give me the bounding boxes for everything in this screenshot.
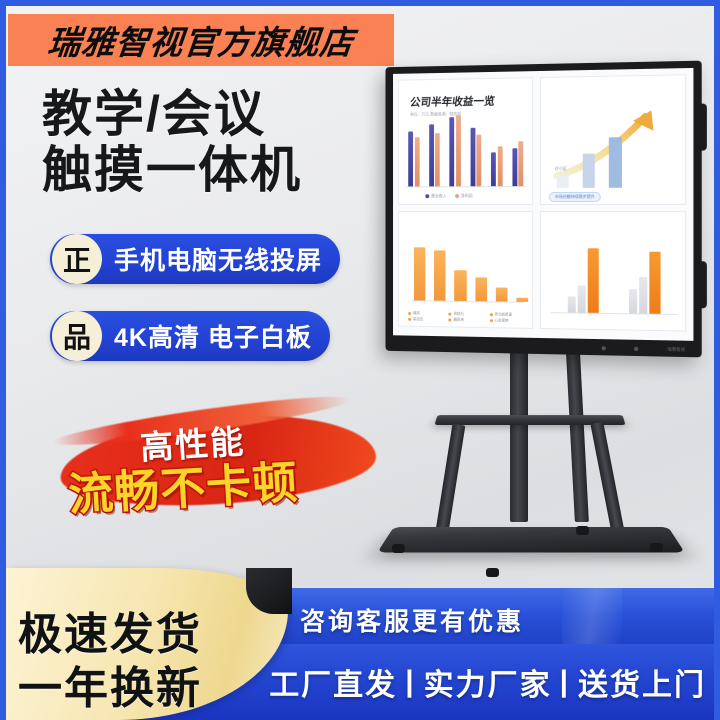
bar bbox=[414, 247, 426, 300]
store-name-banner: 瑞雅智视官方旗舰店 bbox=[8, 14, 394, 66]
feature-pill-4k-whiteboard: 品 4K高清 电子白板 bbox=[50, 311, 330, 361]
ribbon-fold-corner bbox=[246, 568, 292, 614]
descending-bar-chart bbox=[414, 243, 528, 301]
chart-card-revenue: 公司半年收益一览 单位：万元 数据来源：财务部 营业收入 bbox=[398, 77, 533, 205]
growth-axis-label: 往小区 bbox=[555, 166, 567, 172]
bar-group bbox=[491, 146, 505, 186]
stand-base-plate bbox=[377, 527, 684, 552]
product-image: 公司半年收益一览 单位：万元 数据来源：财务部 营业收入 bbox=[358, 54, 714, 554]
page-title: 教学/会议 触摸一体机 bbox=[42, 86, 302, 198]
feature-pill-label-1: 手机电脑无线投屏 bbox=[102, 241, 340, 277]
legend-item: 糖尿病 bbox=[449, 318, 487, 324]
poster-stage: 瑞雅智视官方旗舰店 教学/会议 触摸一体机 正 手机电脑无线投屏 品 4K高清 … bbox=[6, 6, 714, 720]
bar-group bbox=[512, 141, 526, 186]
performance-slogan: 高性能 流畅不卡顿 bbox=[52, 404, 382, 520]
stand-column-front bbox=[510, 346, 528, 522]
feature-pill-label-2: 4K高清 电子白板 bbox=[102, 318, 330, 354]
growth-bar-highlight bbox=[637, 112, 651, 187]
ribbon-line-2: 一年换新 bbox=[18, 652, 202, 716]
poster-root: 瑞雅智视官方旗舰店 教学/会议 触摸一体机 正 手机电脑无线投屏 品 4K高清 … bbox=[0, 0, 720, 720]
chart-axis-line bbox=[406, 186, 526, 187]
slide-canvas: 公司半年收益一览 单位：万元 数据来源：财务部 营业收入 bbox=[393, 68, 693, 341]
growth-bar bbox=[583, 154, 595, 188]
legend-item: 痛风 bbox=[408, 311, 446, 316]
stand-leg-right bbox=[590, 422, 624, 534]
headline-line-2: 触摸一体机 bbox=[42, 142, 302, 198]
bar-group bbox=[470, 128, 484, 187]
bottom-promo-strip: 咨询客服更有优惠 工厂直发 | 实力厂家 | 送货上门 极速发货 一年换新 bbox=[6, 560, 714, 720]
stand-column-rear bbox=[565, 336, 589, 522]
bar bbox=[475, 277, 487, 301]
trust-points-row: 工厂直发 | 实力厂家 | 送货上门 bbox=[269, 660, 706, 704]
interactive-flat-panel: 公司半年收益一览 单位：万元 数据来源：财务部 营业收入 bbox=[385, 61, 701, 358]
bar-cluster bbox=[629, 252, 661, 314]
legend-item: 肾功能损害 bbox=[490, 312, 528, 318]
side-speaker-bottom bbox=[698, 261, 707, 308]
caster-wheel bbox=[576, 526, 589, 535]
caster-wheel bbox=[650, 543, 663, 552]
bar bbox=[496, 287, 508, 301]
chart-card-financials: 主要财务指标 较上年同期增长情况对比分析，主要产品收入构成 bbox=[540, 211, 686, 332]
bar-group bbox=[429, 124, 443, 186]
separator: | bbox=[560, 665, 570, 699]
headline-line-1: 教学/会议 bbox=[42, 86, 302, 142]
bar-cluster bbox=[568, 248, 599, 313]
growth-bar bbox=[609, 137, 622, 188]
sensor-icon bbox=[634, 346, 638, 350]
bar bbox=[434, 250, 446, 300]
badge-mark-pin: 品 bbox=[52, 311, 102, 361]
trust-point-2: 实力厂家 bbox=[424, 660, 552, 704]
store-name-text: 瑞雅智视官方旗舰店 bbox=[45, 16, 356, 64]
chart-card-symptoms: 高尿酸血症引起的后遗症 痛风 肾结石 bbox=[398, 211, 533, 329]
growth-bar-chart: 往小区 bbox=[549, 100, 678, 188]
panel-screen: 公司半年收益一览 单位：万元 数据来源：财务部 营业收入 bbox=[393, 68, 693, 341]
side-speaker-top bbox=[698, 104, 707, 151]
legend-item: 心血管病 bbox=[490, 318, 528, 324]
legend-item: 营业收入 bbox=[425, 193, 446, 199]
bar-group bbox=[449, 115, 463, 186]
legend-item: 肾结石 bbox=[449, 312, 487, 318]
two-cluster-bar-chart bbox=[553, 238, 676, 314]
contact-service-banner: 咨询客服更有优惠 bbox=[238, 588, 714, 650]
power-indicator-icon bbox=[602, 346, 606, 350]
chart-title-revenue: 公司半年收益一览 bbox=[409, 93, 496, 110]
chart-legend: 营业收入 净利润 bbox=[425, 193, 472, 199]
chart-card-growth: 永葆活力的秘诀：更广、更小区、居然增色差异 bbox=[540, 74, 686, 205]
trust-point-1: 工厂直发 bbox=[269, 660, 397, 704]
legend-item: 净利润 bbox=[455, 193, 472, 199]
slogan-main-text: 流畅不卡顿 bbox=[66, 446, 299, 524]
stand-leg-left bbox=[436, 424, 466, 533]
chart-legend: 痛风 肾结石 肾功能损害 高血压 糖尿病 心血管病 bbox=[408, 311, 528, 324]
feature-pill-wireless-cast: 正 手机电脑无线投屏 bbox=[50, 234, 340, 284]
trust-point-3: 送货上门 bbox=[578, 660, 706, 704]
caster-wheel bbox=[392, 544, 405, 553]
brand-logo-text: 瑞雅智视 bbox=[668, 346, 686, 352]
bar-group bbox=[408, 131, 422, 186]
bar bbox=[454, 270, 466, 301]
legend-item: 高血压 bbox=[408, 317, 446, 323]
growth-bar bbox=[557, 176, 569, 188]
chart-axis-line bbox=[412, 300, 524, 303]
separator: | bbox=[405, 665, 415, 699]
growth-tag-pill: 市场份额持续稳步提升 bbox=[549, 192, 601, 202]
panel-control-strip[interactable]: 瑞雅智视 bbox=[602, 343, 685, 354]
badge-mark-zheng: 正 bbox=[52, 234, 102, 284]
contact-service-text: 咨询客服更有优惠 bbox=[300, 602, 524, 638]
grouped-bar-chart bbox=[408, 114, 526, 186]
